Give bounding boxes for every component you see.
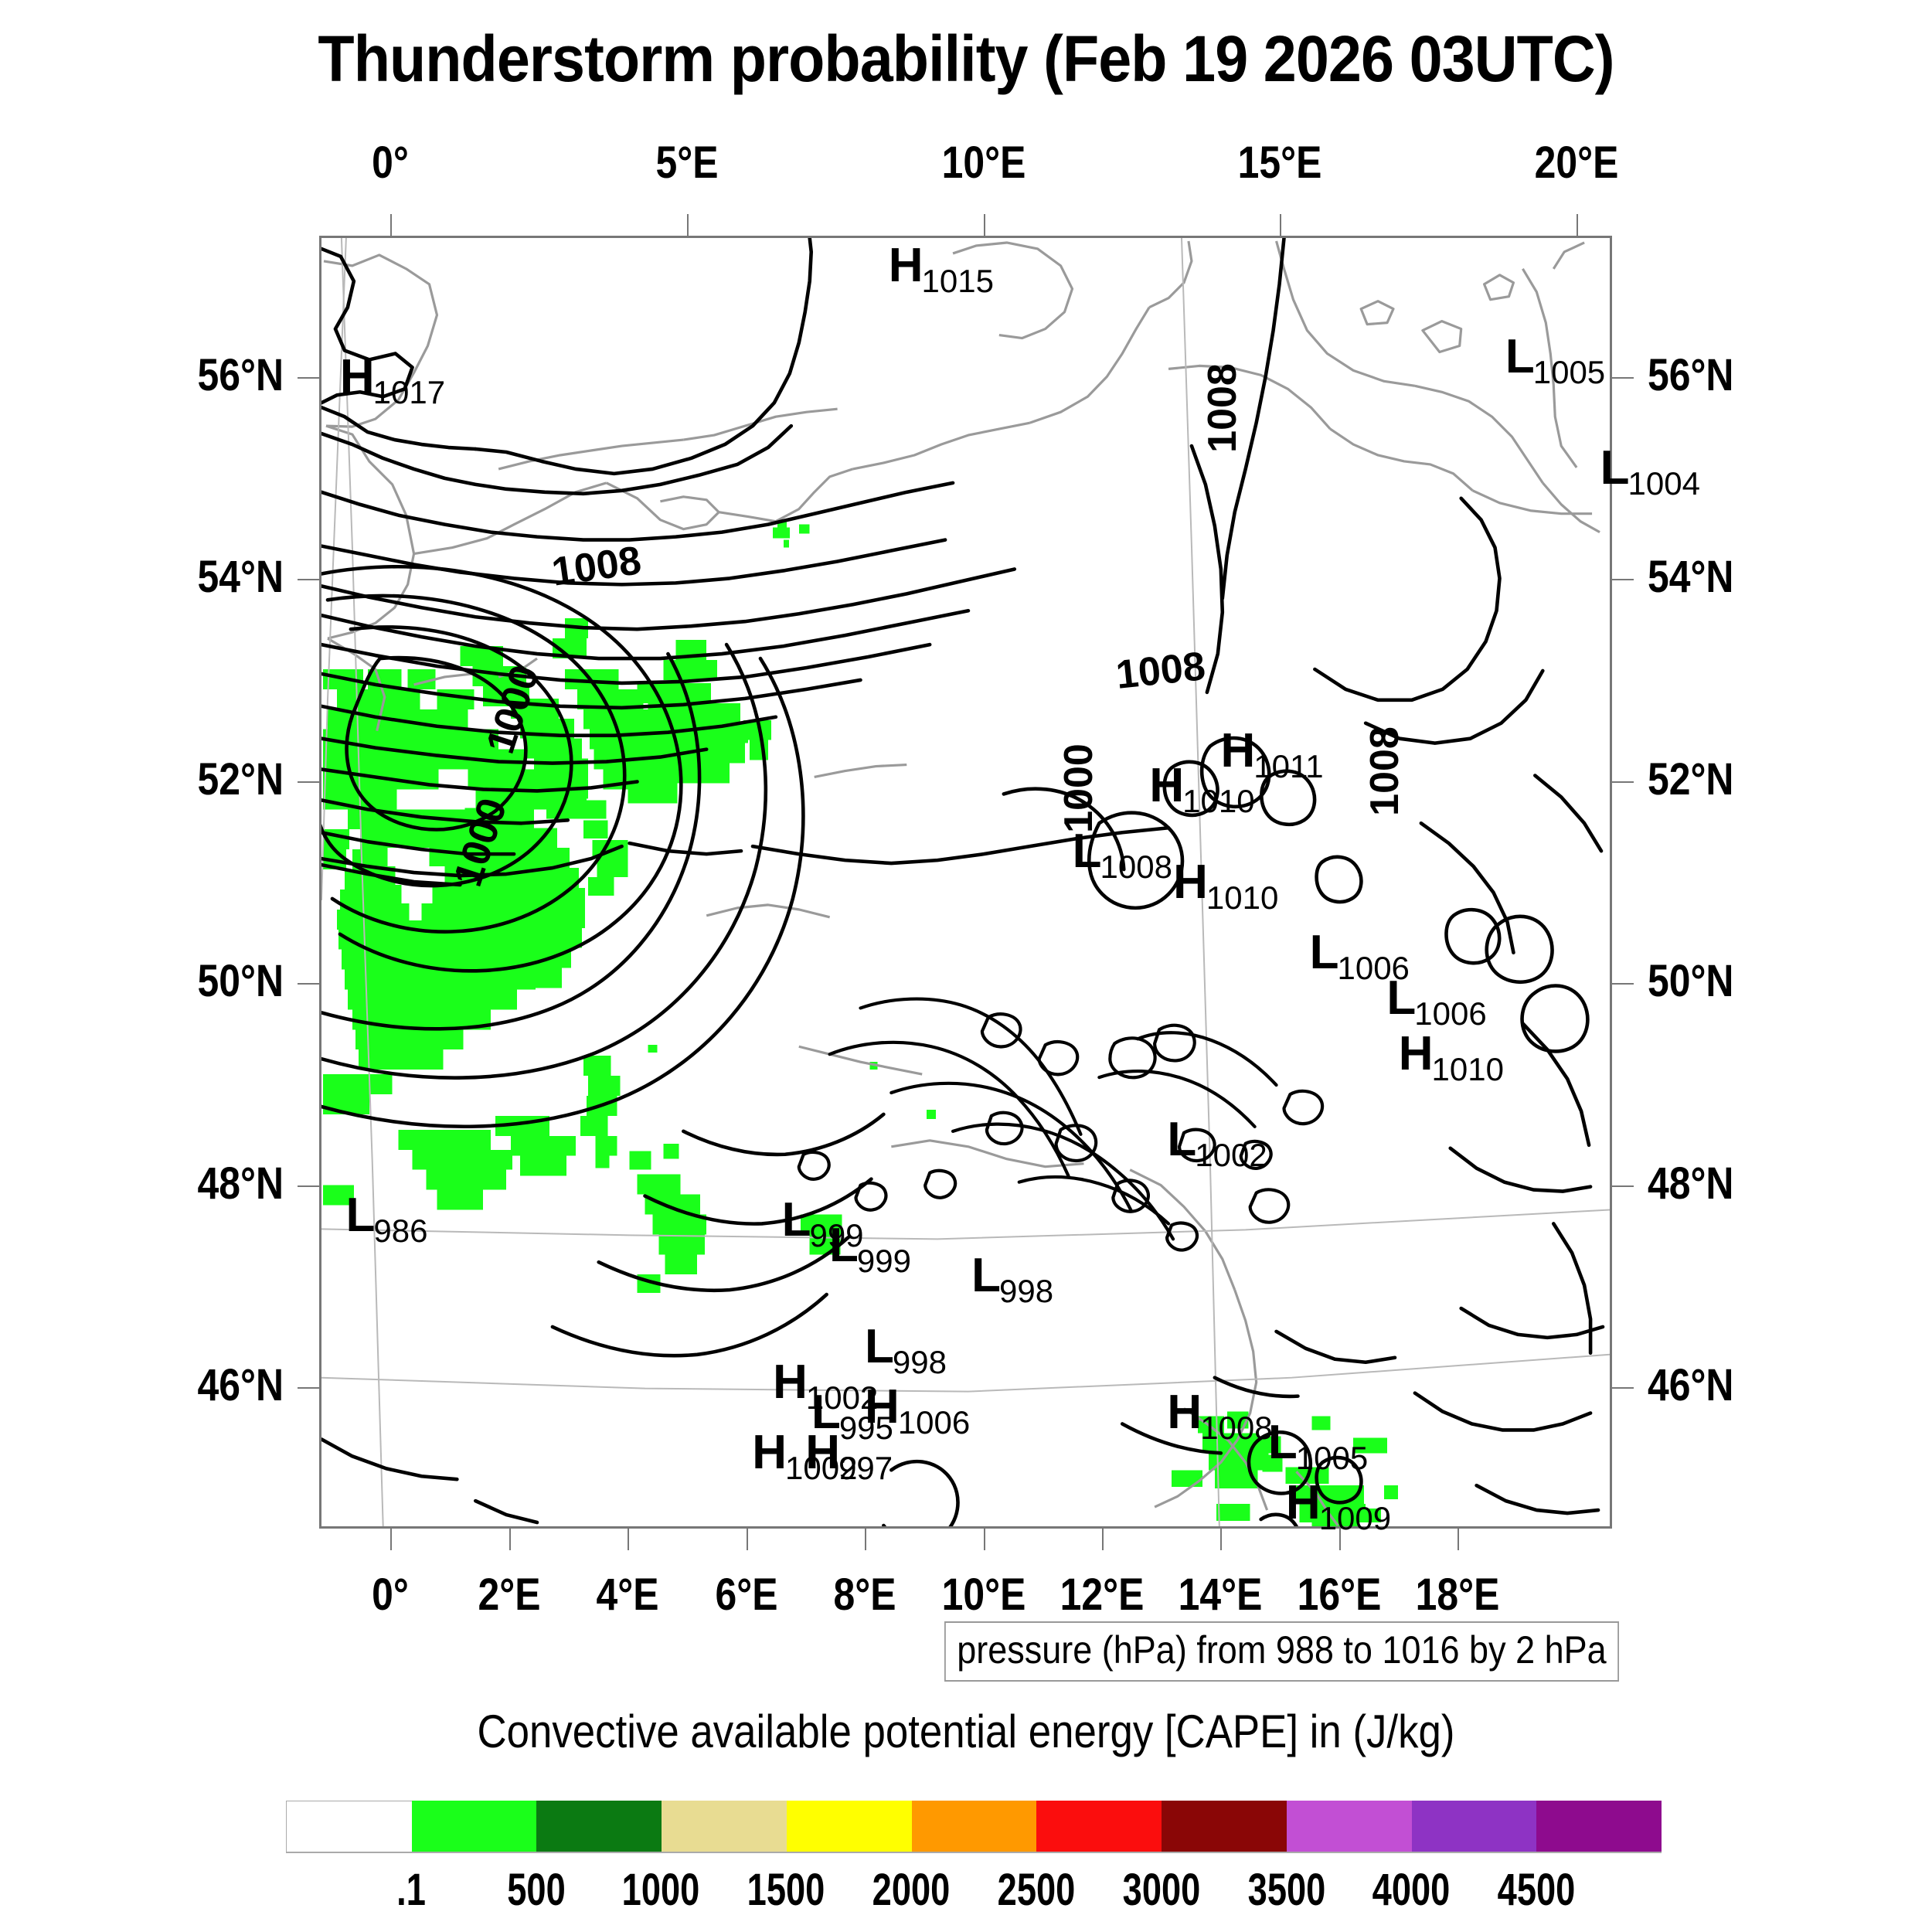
colorbar-cell[interactable] xyxy=(286,1801,412,1853)
map-canvas xyxy=(321,238,1610,1526)
lon-label-bottom: 10°E xyxy=(941,1569,1026,1621)
high-pressure-marker: H1010 xyxy=(1149,762,1256,810)
colorbar[interactable] xyxy=(286,1801,1662,1853)
low-pressure-marker: L1005 xyxy=(1505,333,1607,381)
tick-bottom xyxy=(865,1529,866,1550)
low-pressure-marker: L1006 xyxy=(1310,929,1411,977)
colorbar-tick-label: 2000 xyxy=(872,1864,951,1916)
lon-label-bottom: 6°E xyxy=(715,1569,777,1621)
colorbar-tick-label: 3500 xyxy=(1247,1864,1325,1916)
tick-bottom xyxy=(509,1529,511,1550)
page-title: Thunderstorm probability (Feb 19 2026 03… xyxy=(77,22,1855,97)
tick-bottom xyxy=(984,1529,985,1550)
lon-label-top: 5°E xyxy=(655,137,718,189)
colorbar-cell[interactable] xyxy=(662,1801,787,1853)
colorbar-cell[interactable] xyxy=(536,1801,662,1853)
colorbar-cell[interactable] xyxy=(1287,1801,1412,1853)
contour-label: 1000 xyxy=(1056,743,1102,833)
colorbar-cell[interactable] xyxy=(912,1801,1037,1853)
lon-label-top: 0° xyxy=(372,137,409,189)
lat-label-right: 52°N xyxy=(1648,753,1733,805)
colorbar-tick-label: 500 xyxy=(507,1864,565,1916)
tick-bottom xyxy=(1220,1529,1222,1550)
tick-left xyxy=(298,377,319,379)
high-pressure-marker: H1010 xyxy=(1173,859,1280,906)
lat-label-left: 46°N xyxy=(198,1359,284,1411)
tick-left xyxy=(298,1387,319,1389)
map-panel[interactable]: 1008 1000 1008 1008 1000 1008 1000 xyxy=(319,236,1612,1529)
tick-top xyxy=(687,214,689,236)
tick-right xyxy=(1612,983,1634,985)
tick-bottom xyxy=(390,1529,392,1550)
tick-right xyxy=(1612,1185,1634,1187)
tick-bottom xyxy=(747,1529,748,1550)
colorbar-tick-label: 1500 xyxy=(747,1864,825,1916)
lat-label-left: 52°N xyxy=(198,753,284,805)
colorbar-cell[interactable] xyxy=(787,1801,912,1853)
colorbar-tick-label: 4000 xyxy=(1372,1864,1451,1916)
low-pressure-marker: L1005 xyxy=(1268,1419,1369,1467)
lon-label-bottom: 2°E xyxy=(478,1569,540,1621)
contour-label: 1008 xyxy=(1114,643,1207,699)
lat-label-right: 56°N xyxy=(1648,349,1733,401)
lat-label-left: 56°N xyxy=(198,349,284,401)
high-pressure-marker: H997 xyxy=(805,1429,894,1477)
lat-label-left: 54°N xyxy=(198,551,284,603)
tick-right xyxy=(1612,579,1634,580)
low-pressure-marker: L998 xyxy=(971,1252,1055,1300)
colorbar-labels: .150010001500200025003000350040004500 xyxy=(286,1864,1662,1926)
lat-label-left: 50°N xyxy=(198,955,284,1007)
tick-bottom xyxy=(1458,1529,1459,1550)
tick-top xyxy=(984,214,985,236)
low-pressure-marker: L1006 xyxy=(1386,975,1488,1022)
tick-right xyxy=(1612,781,1634,783)
tick-left xyxy=(298,1185,319,1187)
lon-label-bottom: 12°E xyxy=(1060,1569,1145,1621)
colorbar-tick-label: 1000 xyxy=(622,1864,700,1916)
lon-label-bottom: 8°E xyxy=(834,1569,896,1621)
tick-bottom xyxy=(1339,1529,1341,1550)
colorbar-title: Convective available potential energy [C… xyxy=(116,1705,1816,1758)
low-pressure-marker: L999 xyxy=(829,1222,913,1270)
low-pressure-marker: L1004 xyxy=(1600,444,1702,492)
colorbar-baseline xyxy=(286,1852,1662,1853)
high-pressure-marker: H1006 xyxy=(865,1383,971,1431)
contour-label: 1008 xyxy=(1362,726,1408,816)
lon-label-bottom: 16°E xyxy=(1298,1569,1382,1621)
tick-left xyxy=(298,983,319,985)
lon-label-bottom: 14°E xyxy=(1179,1569,1263,1621)
colorbar-cell[interactable] xyxy=(1412,1801,1537,1853)
lon-label-bottom: 0° xyxy=(372,1569,409,1621)
tick-top xyxy=(390,214,392,236)
colorbar-tick-label: 2500 xyxy=(998,1864,1076,1916)
high-pressure-marker: H1008 xyxy=(1167,1389,1274,1437)
lon-label-top: 15°E xyxy=(1238,137,1322,189)
pressure-legend-note: pressure (hPa) from 988 to 1016 by 2 hPa xyxy=(944,1621,1619,1682)
lat-label-right: 46°N xyxy=(1648,1359,1733,1411)
tick-top xyxy=(1280,214,1281,236)
tick-bottom xyxy=(1102,1529,1104,1550)
lon-label-top: 20°E xyxy=(1535,137,1619,189)
tick-right xyxy=(1612,377,1634,379)
lon-label-bottom: 18°E xyxy=(1416,1569,1500,1621)
high-pressure-marker: H1010 xyxy=(1399,1030,1505,1078)
tick-left xyxy=(298,579,319,580)
colorbar-tick-label: 3000 xyxy=(1122,1864,1200,1916)
tick-left xyxy=(298,781,319,783)
colorbar-cell[interactable] xyxy=(1536,1801,1662,1853)
lat-label-right: 48°N xyxy=(1648,1158,1733,1209)
lat-label-right: 54°N xyxy=(1648,551,1733,603)
lat-label-right: 50°N xyxy=(1648,955,1733,1007)
tick-bottom xyxy=(628,1529,629,1550)
high-pressure-marker: H1017 xyxy=(340,353,447,401)
low-pressure-marker: L1008 xyxy=(1073,828,1174,876)
colorbar-tick-label: 4500 xyxy=(1498,1864,1576,1916)
colorbar-tick-label: .1 xyxy=(396,1864,426,1916)
high-pressure-marker: H1015 xyxy=(889,242,995,290)
lat-label-left: 48°N xyxy=(198,1158,284,1209)
low-pressure-marker: L1002 xyxy=(1167,1116,1268,1164)
figure-root: Thunderstorm probability (Feb 19 2026 03… xyxy=(0,0,1932,1932)
colorbar-cell[interactable] xyxy=(412,1801,537,1853)
contour-label: 1008 xyxy=(1199,363,1246,453)
colorbar-cell[interactable] xyxy=(1162,1801,1287,1853)
lon-label-top: 10°E xyxy=(941,137,1026,189)
high-pressure-marker: H1009 xyxy=(1286,1479,1393,1527)
tick-right xyxy=(1612,1387,1634,1389)
lon-label-bottom: 4°E xyxy=(597,1569,659,1621)
low-pressure-marker: L986 xyxy=(346,1192,430,1240)
colorbar-cell[interactable] xyxy=(1036,1801,1162,1853)
tick-top xyxy=(1577,214,1578,236)
